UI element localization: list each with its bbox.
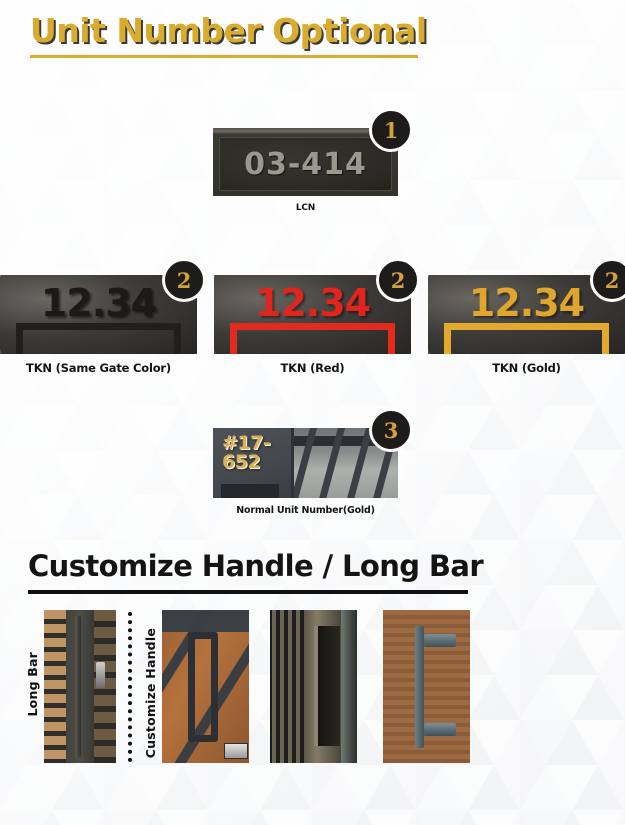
figure-lcn: 1 03-414 LCN bbox=[213, 128, 398, 213]
caption-lcn: LCN bbox=[213, 203, 398, 213]
section-title-customize-handle: Customize Handle / Long Bar bbox=[28, 551, 488, 594]
caption-tkn-gold: TKN (Gold) bbox=[428, 361, 625, 375]
caption-tkn-same-gate-color: TKN (Same Gate Color) bbox=[0, 361, 197, 375]
lcn-plate-inner: 03-414 bbox=[219, 137, 392, 191]
photo-long-bar-door bbox=[44, 610, 116, 763]
figure-tkn-gold: 2 12.34 TKN (Gold) bbox=[428, 275, 625, 375]
handle-arm-bottom bbox=[424, 723, 456, 736]
badge-1: 1 bbox=[369, 108, 413, 152]
figure-normal-unit-number: 3 #17-652 Normal Unit Number(Gold) bbox=[213, 428, 398, 516]
digital-lock bbox=[224, 743, 248, 759]
title-underline bbox=[30, 55, 418, 58]
figure-tkn-same-gate-color: 2 12.34 TKN (Same Gate Color) bbox=[0, 275, 197, 375]
door-wood-slats bbox=[44, 610, 66, 763]
photo-customize-handle-wood-door bbox=[162, 610, 249, 763]
page-title: Unit Number Optional bbox=[30, 14, 450, 49]
gate-bar bbox=[294, 428, 319, 498]
handle-arm-top bbox=[424, 634, 456, 647]
gate-number-text: #17-652 bbox=[222, 434, 284, 472]
gate-frame bbox=[444, 323, 610, 354]
door-edge bbox=[341, 610, 357, 763]
long-bar-handle bbox=[75, 616, 81, 757]
badge-3: 3 bbox=[369, 408, 413, 452]
label-customize-handle: Customize Handle bbox=[143, 628, 158, 758]
gate-frame bbox=[230, 323, 396, 354]
photo-c-shaped-handle bbox=[383, 610, 470, 763]
gate-bar bbox=[316, 428, 346, 498]
caption-normal-unit-number: Normal Unit Number(Gold) bbox=[213, 505, 398, 516]
lcn-number-text: 03-414 bbox=[244, 147, 367, 182]
bronze-slats bbox=[272, 610, 304, 763]
section-title-unit-number: Unit Number Optional bbox=[30, 14, 450, 58]
section-heading-underline bbox=[28, 590, 468, 594]
handle-spine bbox=[415, 626, 424, 748]
section-heading: Customize Handle / Long Bar bbox=[28, 551, 488, 583]
caption-tkn-red: TKN (Red) bbox=[214, 361, 411, 375]
label-long-bar: Long Bar bbox=[25, 652, 40, 716]
badge-2-red: 2 bbox=[376, 258, 420, 302]
figure-tkn-red: 2 12.34 TKN (Red) bbox=[214, 275, 411, 375]
dotted-divider bbox=[128, 612, 136, 762]
poster-page: Unit Number Optional 1 03-414 LCN 2 12.3… bbox=[0, 0, 625, 825]
gate-frame bbox=[16, 323, 182, 354]
photo-recessed-bronze-handle bbox=[270, 610, 357, 763]
badge-2-same: 2 bbox=[162, 258, 206, 302]
recessed-handle bbox=[314, 626, 340, 746]
digital-lock bbox=[96, 662, 105, 688]
rectangular-handle bbox=[188, 632, 218, 742]
